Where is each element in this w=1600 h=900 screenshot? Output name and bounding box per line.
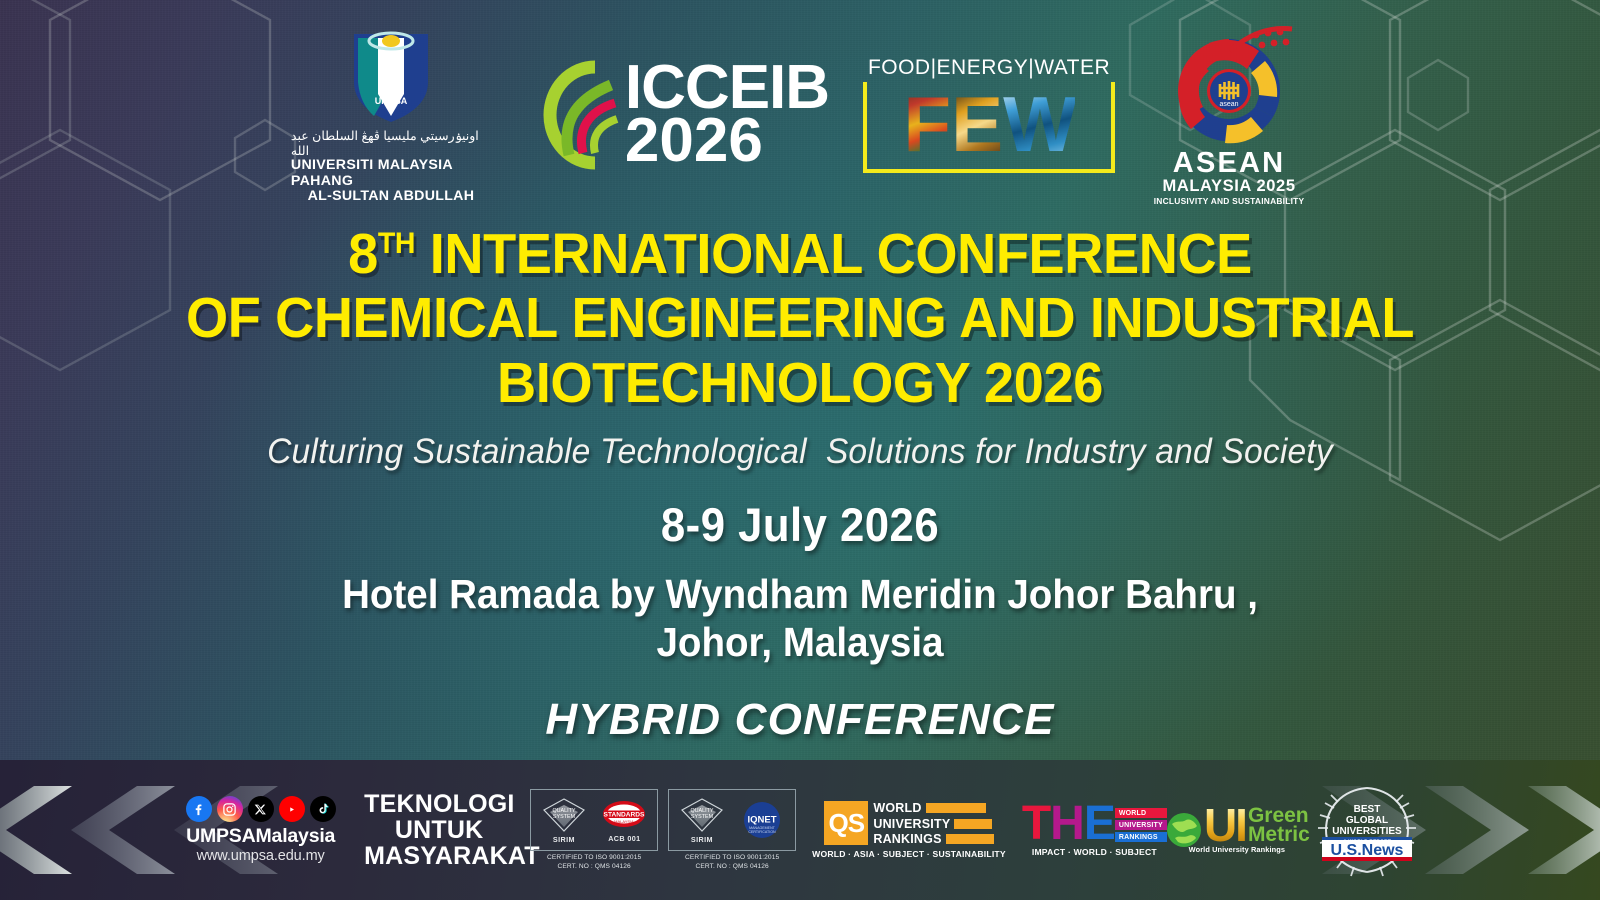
title-line-1: 8TH INTERNATIONAL CONFERENCE (40, 222, 1560, 286)
svg-text:asean: asean (1220, 101, 1239, 108)
usnews-line-3: UNIVERSITIES (1332, 826, 1402, 837)
uigm-footnote: World University Rankings (1189, 845, 1285, 854)
conference-title: 8TH INTERNATIONAL CONFERENCE OF CHEMICAL… (0, 222, 1600, 415)
the-footnote: IMPACT · WORLD · SUBJECT (1032, 847, 1157, 857)
cert-footnote: CERTIFIED TO ISO 9001:2015 CERT. NO : QM… (530, 854, 658, 872)
asean-logo: asean ASEAN MALAYSIA 2025 INCLUSIVITY AN… (1149, 23, 1309, 206)
qs-rankings-logo: QS WORLD UNIVERSITY RANKINGS WORLD · ASI… (812, 801, 1006, 859)
icceib-leaf-icon (525, 55, 621, 175)
qs-line-1: WORLD (873, 801, 921, 815)
asean-swirl-icon: asean (1164, 23, 1294, 148)
certification-badges: QUALITY SYSTEM SIRIM STANDARDS (530, 789, 796, 872)
icceib-logo: ICCEIB 2026 (525, 55, 829, 175)
cert-number-line: CERT. NO : QMS 04126 (668, 863, 796, 872)
slogan-line-1: TEKNOLOGI (364, 791, 514, 817)
svg-text:IQNET: IQNET (748, 814, 777, 825)
the-letter-e: E (1084, 803, 1115, 844)
cert-footnote: CERTIFIED TO ISO 9001:2015 CERT. NO : QM… (668, 854, 796, 872)
usnews-line-2: GLOBAL (1346, 815, 1388, 826)
umpsa-arabic-name: اونيۏرسيتي مليسيا ڤهڠ السلطان عبد الله (291, 128, 491, 158)
website-url[interactable]: www.umpsa.edu.my (197, 848, 325, 864)
umpsa-logo: UMPSA اونيۏرسيتي مليسيا ڤهڠ السلطان عبد … (291, 24, 491, 206)
few-letter-water: W (1003, 89, 1075, 159)
few-frame: F E W (863, 82, 1115, 172)
title-ordinal: 8 (348, 222, 378, 286)
conference-poster: UMPSA اونيۏرسيتي مليسيا ڤهڠ السلطان عبد … (0, 0, 1600, 900)
certification-box: QUALITY SYSTEM SIRIM STANDARDS (530, 789, 658, 851)
title-ordinal-suffix: TH (378, 227, 415, 260)
cert-right-label: ACB 001 (608, 834, 640, 843)
iqnet-icon: IQNET MANAGEMENT CERTIFICATION (741, 799, 783, 841)
venue-line-2: Johor, Malaysia (48, 618, 1552, 666)
svg-text:MALAYSIA: MALAYSIA (615, 819, 635, 824)
qs-footnote: WORLD · ASIA · SUBJECT · SUSTAINABILITY (812, 849, 1006, 859)
few-letter-food: F (903, 89, 949, 159)
qs-line-3: RANKINGS (873, 832, 941, 846)
instagram-icon[interactable] (217, 796, 243, 822)
certification-sirim-acb: QUALITY SYSTEM SIRIM STANDARDS (530, 789, 658, 872)
svg-text:CERTIFICATION: CERTIFICATION (749, 830, 777, 834)
certification-sirim-iqnet: QUALITY SYSTEM SIRIM IQNET MANAGEMENT CE… (668, 789, 796, 872)
uigm-word-metric: Metric (1248, 825, 1310, 844)
cert-left-label: SIRIM (691, 835, 713, 844)
title-line-1-rest: INTERNATIONAL CONFERENCE (415, 222, 1252, 286)
the-tag-world: WORLD (1115, 808, 1167, 818)
umpsa-name-line2: AL-SULTAN ABDULLAH (308, 189, 475, 205)
the-tag-university: UNIVERSITY (1115, 820, 1167, 830)
icceib-year: 2026 (625, 115, 829, 167)
qs-line-2: UNIVERSITY (873, 817, 950, 831)
umpsa-shield-icon: UMPSA (348, 24, 434, 124)
svg-text:SYSTEM: SYSTEM (553, 814, 576, 820)
tiktok-icon[interactable] (310, 796, 336, 822)
asean-tagline: INCLUSIVITY AND SUSTAINABILITY (1154, 196, 1305, 206)
cert-number-line: CERT. NO : QMS 04126 (530, 863, 658, 872)
slogan-line-2: UNTUK (364, 817, 514, 843)
footer-bar: UMPSAMalaysia www.umpsa.edu.my TEKNOLOGI… (0, 760, 1600, 900)
usnews-badge: BEST GLOBAL UNIVERSITIES & WORLD REPORT … (1307, 778, 1427, 882)
the-tag-rankings: RANKINGS (1115, 832, 1167, 842)
green-globe-icon (1164, 810, 1204, 850)
conference-tagline: Culturing Sustainable Technological Solu… (32, 432, 1568, 472)
umpsa-name-line1: UNIVERSITI MALAYSIA PAHANG (291, 158, 491, 190)
cert-left-label: SIRIM (553, 835, 575, 844)
quality-system-diamond-icon: QUALITY SYSTEM (680, 797, 724, 833)
the-letter-t: T (1022, 803, 1050, 844)
youtube-icon[interactable] (279, 796, 305, 822)
asean-name: ASEAN (1173, 149, 1286, 178)
the-rankings-logo: T H E WORLD UNIVERSITY RANKINGS IMPACT ·… (1022, 803, 1167, 856)
svg-text:UMPSA: UMPSA (375, 96, 408, 106)
the-letter-h: H (1050, 803, 1084, 844)
conference-venue: Hotel Ramada by Wyndham Meridin Johor Ba… (48, 570, 1552, 667)
standards-malaysia-icon: STANDARDS MALAYSIA (601, 798, 647, 832)
svg-text:SYSTEM: SYSTEM (691, 814, 714, 820)
logo-row: UMPSA اونيۏرسيتي مليسيا ڤهڠ السلطان عبد … (0, 12, 1600, 217)
venue-line-1: Hotel Ramada by Wyndham Meridin Johor Ba… (48, 570, 1552, 618)
uigm-ui-text: UI (1204, 807, 1246, 845)
footer-content: UMPSAMalaysia www.umpsa.edu.my TEKNOLOGI… (0, 760, 1600, 900)
social-handle: UMPSAMalaysia (186, 825, 335, 848)
asean-subtitle: MALAYSIA 2025 (1162, 178, 1295, 195)
x-twitter-icon[interactable] (248, 796, 274, 822)
usnews-laurel-icon: BEST GLOBAL UNIVERSITIES & WORLD REPORT … (1308, 778, 1426, 882)
social-icons (186, 796, 336, 822)
usnews-brand: U.S.News (1330, 842, 1403, 859)
ui-greenmetric-logo: UI Green Metric World University Ranking… (1183, 806, 1291, 855)
qs-mark-icon: QS (824, 801, 868, 845)
slogan-line-3: MASYARAKAT (364, 843, 514, 869)
svg-text:STANDARDS: STANDARDS (604, 812, 646, 819)
cert-iso-line: CERTIFIED TO ISO 9001:2015 (668, 854, 796, 863)
conference-mode: HYBRID CONFERENCE (0, 695, 1600, 745)
few-letter-energy: E (951, 89, 1001, 159)
qs-mark-text: QS (829, 808, 865, 839)
few-logo: FOOD|ENERGY|WATER F E W (863, 56, 1115, 172)
title-line-2: OF CHEMICAL ENGINEERING AND INDUSTRIAL (40, 286, 1560, 350)
certification-box: QUALITY SYSTEM SIRIM IQNET MANAGEMENT CE… (668, 789, 796, 851)
facebook-icon[interactable] (186, 796, 212, 822)
title-line-3: BIOTECHNOLOGY 2026 (40, 351, 1560, 415)
umpsa-slogan: TEKNOLOGI UNTUK MASYARAKAT (364, 791, 514, 870)
few-header-text: FOOD|ENERGY|WATER (863, 56, 1115, 80)
usnews-line-1: BEST (1354, 804, 1381, 815)
social-media-block: UMPSAMalaysia www.umpsa.edu.my (173, 796, 348, 864)
conference-dates: 8-9 July 2026 (56, 497, 1544, 552)
quality-system-diamond-icon: QUALITY SYSTEM (542, 797, 586, 833)
cert-iso-line: CERTIFIED TO ISO 9001:2015 (530, 854, 658, 863)
